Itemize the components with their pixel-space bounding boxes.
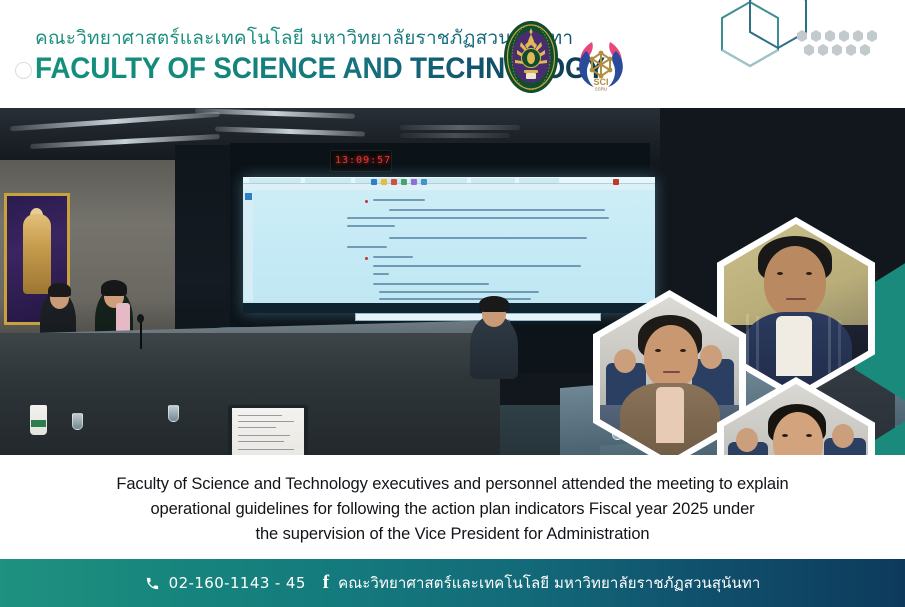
- sci-ssru-logo: SCI SSRU: [572, 32, 630, 92]
- facebook-icon: f: [323, 572, 329, 594]
- phone-icon: [145, 576, 160, 591]
- meeting-room-photo: 13:09:57: [0, 105, 905, 455]
- caption-block: Faculty of Science and Technology execut…: [0, 460, 905, 558]
- hexagon-dots-decoration: [796, 28, 892, 64]
- poster-root: คณะวิทยาศาสตร์และเทคโนโลยี มหาวิทยาลัยรา…: [0, 0, 905, 607]
- desk-monitor-screen: [232, 408, 304, 455]
- circle-decoration: [15, 62, 32, 79]
- sci-logo-text: SCI: [593, 77, 608, 87]
- ssru-university-seal: [503, 20, 559, 94]
- footer-bar: 02-160-1143 - 45 f คณะวิทยาศาสตร์และเทคโ…: [0, 559, 905, 607]
- caption-line-2: operational guidelines for following the…: [33, 497, 873, 522]
- water-glass: [168, 405, 179, 422]
- photo-top-divider: [0, 105, 905, 108]
- clock-digits: 13:09:57: [335, 155, 391, 166]
- caption-text: Faculty of Science and Technology execut…: [33, 472, 873, 547]
- projection-screen: [243, 177, 655, 313]
- header: คณะวิทยาศาสตร์และเทคโนโลยี มหาวิทยาลัยรา…: [0, 0, 905, 105]
- footer-facebook-page: คณะวิทยาศาสตร์และเทคโนโลยี มหาวิทยาลัยรา…: [338, 571, 760, 595]
- digital-clock: 13:09:57: [330, 150, 392, 172]
- water-glass: [72, 413, 83, 430]
- caption-line-1: Faculty of Science and Technology execut…: [33, 472, 873, 497]
- ssru-logo-text: SSRU: [595, 87, 608, 92]
- caption-line-3: the supervision of the Vice President fo…: [33, 522, 873, 547]
- paper-cup: [30, 405, 47, 435]
- footer-phone-number: 02-160-1143 - 45: [169, 574, 306, 592]
